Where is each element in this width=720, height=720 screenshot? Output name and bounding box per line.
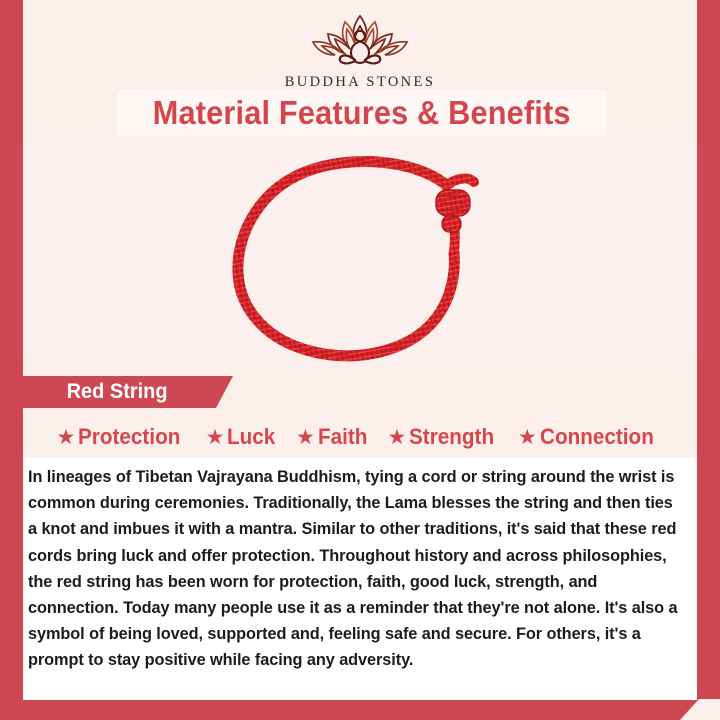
description-panel: In lineages of Tibetan Vajrayana Buddhis…	[23, 458, 697, 700]
keyword-label: Strength	[409, 424, 494, 450]
keyword-label: Protection	[78, 424, 180, 450]
keyword-faith: ★ Faith	[296, 424, 372, 450]
keyword-connection: ★ Connection	[518, 424, 664, 450]
keyword-protection: ★ Protection	[57, 424, 190, 450]
poster-inner-canvas: BUDDHA STONES Material Features & Benefi…	[23, 0, 697, 700]
star-icon: ★	[206, 427, 225, 448]
keyword-luck: ★ Luck	[206, 424, 280, 450]
keyword-strength: ★ Strength	[388, 424, 502, 450]
frame-bar-left	[0, 0, 23, 700]
description-text: In lineages of Tibetan Vajrayana Buddhis…	[28, 464, 682, 674]
adjustable-knot	[436, 190, 470, 232]
product-name: Red String	[67, 380, 168, 404]
frame-bar-bottom	[0, 698, 700, 720]
infographic-poster: BUDDHA STONES Material Features & Benefi…	[0, 0, 720, 720]
keyword-label: Luck	[227, 424, 275, 450]
red-braided-cord-bracelet-icon	[210, 148, 510, 363]
star-icon: ★	[518, 427, 537, 448]
frame-bar-right	[697, 22, 720, 699]
benefit-keyword-list: ★ Protection ★ Luck ★ Faith ★ Strength ★…	[23, 418, 697, 456]
page-title: Material Features & Benefits	[153, 94, 571, 132]
star-icon: ★	[388, 427, 407, 448]
lotus-meditation-icon	[301, 12, 419, 72]
title-banner: Material Features & Benefits	[117, 90, 607, 136]
product-image-area	[23, 140, 697, 365]
brand-logo: BUDDHA STONES	[23, 12, 697, 91]
star-icon: ★	[57, 427, 76, 448]
keyword-label: Faith	[318, 424, 367, 450]
brand-name: BUDDHA STONES	[23, 74, 697, 91]
product-name-banner: Red String	[23, 376, 233, 408]
keyword-label: Connection	[540, 424, 654, 450]
star-icon: ★	[296, 427, 315, 448]
